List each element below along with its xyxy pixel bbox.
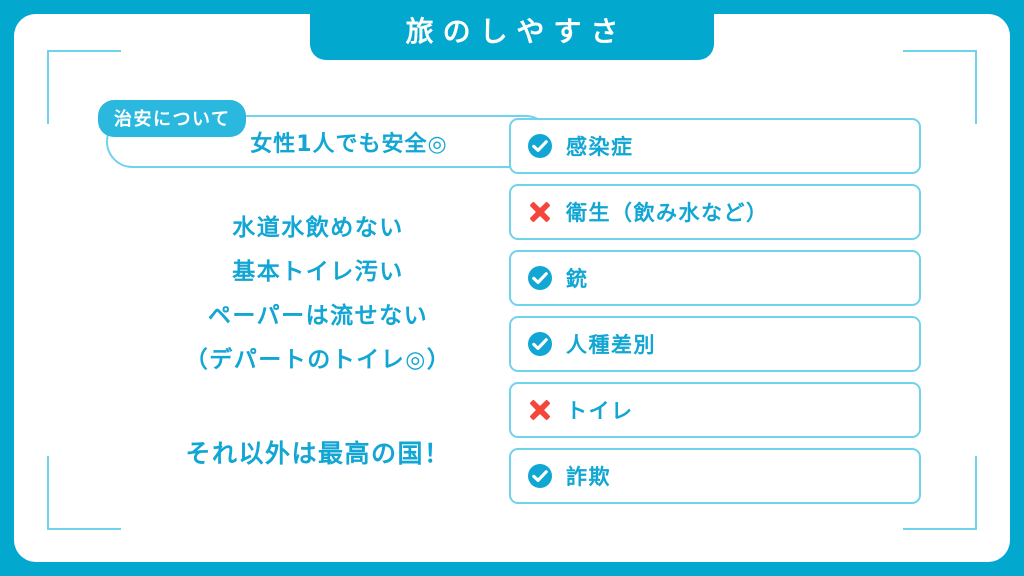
checklist-row-label: 詐欺 (566, 461, 611, 491)
checklist-row: 人種差別 (509, 316, 921, 372)
checklist-row: トイレ (509, 382, 921, 438)
checklist-row-label: 銃 (566, 263, 589, 293)
check-circle-icon (526, 264, 554, 292)
left-column: 女性1人でも安全◎ 治安について 水道水飲めない 基本トイレ汚い ペーパーは流せ… (88, 100, 478, 470)
corner-bracket-top-right (903, 50, 977, 124)
conclusion-text: それ以外は最高の国！ (88, 434, 548, 470)
notes-list: 水道水飲めない 基本トイレ汚い ペーパーは流せない （デパートのトイレ◎） (88, 206, 548, 382)
cross-mark-icon (526, 198, 554, 226)
checklist-row: 感染症 (509, 118, 921, 174)
cross-mark-icon (526, 396, 554, 424)
safety-badge-label: 治安について (98, 100, 246, 137)
checklist-row: 衛生（飲み水など） (509, 184, 921, 240)
slide-root: 旅のしやすさ 女性1人でも安全◎ 治安について 水道水飲めない 基本トイレ汚い … (0, 0, 1024, 576)
check-circle-icon (526, 462, 554, 490)
checklist-row-label: 衛生（飲み水など） (566, 197, 769, 227)
checklist-row-label: トイレ (566, 395, 634, 425)
safety-block: 女性1人でも安全◎ 治安について (88, 100, 478, 170)
checklist-row: 詐欺 (509, 448, 921, 504)
safety-highlight-text: 女性1人でも安全◎ (210, 126, 448, 158)
checklist-row-label: 人種差別 (566, 329, 656, 359)
title-banner: 旅のしやすさ (310, 0, 714, 60)
checklist-row-label: 感染症 (566, 131, 634, 161)
checklist: 感染症 衛生（飲み水など） 銃 (509, 118, 921, 514)
page-title: 旅のしやすさ (397, 10, 628, 50)
note-line: 基本トイレ汚い (88, 250, 548, 294)
checklist-row: 銃 (509, 250, 921, 306)
check-circle-icon (526, 330, 554, 358)
check-circle-icon (526, 132, 554, 160)
note-line: ペーパーは流せない (88, 294, 548, 338)
note-line: （デパートのトイレ◎） (88, 338, 548, 382)
note-line: 水道水飲めない (88, 206, 548, 250)
